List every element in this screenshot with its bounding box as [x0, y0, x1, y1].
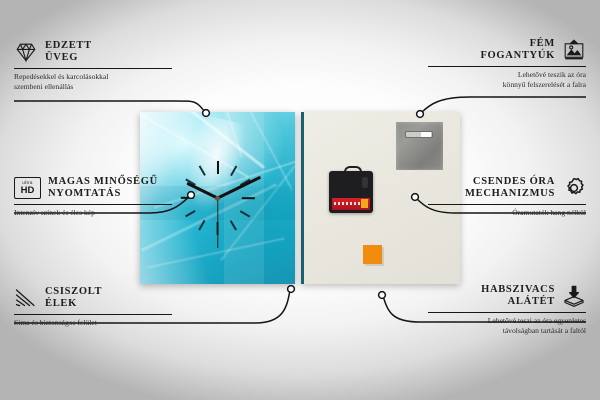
- feature-header: CSISZOLT ÉLEK: [14, 286, 172, 311]
- feature-rule: [14, 204, 172, 205]
- feature-rule: [14, 68, 172, 69]
- feature-metal-handles: FÉM FOGANTYÚK Lehetővé teszik az óra kön…: [428, 38, 586, 90]
- connector-dot-foam: [379, 292, 386, 299]
- mechanism-loop: [344, 166, 362, 175]
- feather-strand: [147, 237, 284, 268]
- feature-subtitle: Lehetővé teszi az óra egyenletes távolsá…: [428, 316, 586, 337]
- feature-high-quality-print: ultra HD MAGAS MINŐSÉGŰ NYOMTATÁS Intenz…: [14, 176, 172, 218]
- polished-edges-icon: [14, 286, 38, 310]
- badge-large-text: HD: [21, 186, 35, 196]
- clock-second-hand: [217, 198, 218, 248]
- glass-edge: [301, 112, 304, 284]
- feature-silent-mechanism: CSENDES ÓRA MECHANIZMUS Óramutatók hang …: [428, 176, 586, 218]
- feature-subtitle: Repedésekkel és karcolásokkal szembeni e…: [14, 72, 172, 93]
- feature-rule: [428, 312, 586, 313]
- battery: [332, 198, 370, 210]
- foam-spacer-pad: [363, 245, 382, 264]
- clock-center-hub: [215, 196, 220, 201]
- feature-header: CSENDES ÓRA MECHANIZMUS: [428, 176, 586, 201]
- framed-picture-hanging-icon: [562, 38, 586, 62]
- metal-hanger-bracket: [396, 122, 443, 170]
- feature-rule: [428, 66, 586, 67]
- diamond-icon: [14, 40, 38, 64]
- battery-plus-terminal: [361, 199, 368, 208]
- connector-handles: [421, 97, 586, 113]
- battery-label: [334, 202, 360, 205]
- feature-subtitle: Lehetővé teszik az óra könnyű felszerelé…: [428, 70, 586, 91]
- feature-subtitle: Sima és biztonságos felület: [14, 318, 172, 328]
- feature-subtitle: Óramutatók hang nélkül: [428, 208, 586, 218]
- product-image: [140, 112, 460, 287]
- feature-rule: [428, 204, 586, 205]
- feature-header: EDZETT ÜVEG: [14, 40, 172, 65]
- feature-title: EDZETT ÜVEG: [45, 40, 92, 65]
- gear-icon: [562, 176, 586, 200]
- feature-title: CSISZOLT ÉLEK: [45, 286, 102, 311]
- feature-title: CSENDES ÓRA MECHANIZMUS: [465, 176, 555, 201]
- feature-rule: [14, 314, 172, 315]
- feature-header: FÉM FOGANTYÚK: [428, 38, 586, 63]
- feature-header: HABSZIVACS ALÁTÉT: [428, 284, 586, 309]
- hanger-slot: [405, 131, 433, 138]
- connector-tempered-glass: [14, 101, 205, 112]
- feature-foam-pad: HABSZIVACS ALÁTÉT Lehetővé teszi az óra …: [428, 284, 586, 336]
- feature-polished-edges: CSISZOLT ÉLEK Sima és biztonságos felüle…: [14, 286, 172, 328]
- ultra-hd-badge-icon: ultra HD: [14, 177, 41, 199]
- infographic-canvas: EDZETT ÜVEG Repedésekkel és karcolásokka…: [0, 0, 600, 400]
- mechanism-knob: [362, 177, 368, 188]
- clock-mechanism: [329, 171, 373, 213]
- feature-title: MAGAS MINŐSÉGŰ NYOMTATÁS: [48, 176, 158, 201]
- arrow-onto-pad-icon: [562, 284, 586, 308]
- feature-header: ultra HD MAGAS MINŐSÉGŰ NYOMTATÁS: [14, 176, 172, 201]
- feature-title: HABSZIVACS ALÁTÉT: [481, 284, 555, 309]
- feature-subtitle: Intenzív színek és éles kép: [14, 208, 172, 218]
- feature-title: FÉM FOGANTYÚK: [480, 38, 555, 63]
- feature-tempered-glass: EDZETT ÜVEG Repedésekkel és karcolásokka…: [14, 40, 172, 92]
